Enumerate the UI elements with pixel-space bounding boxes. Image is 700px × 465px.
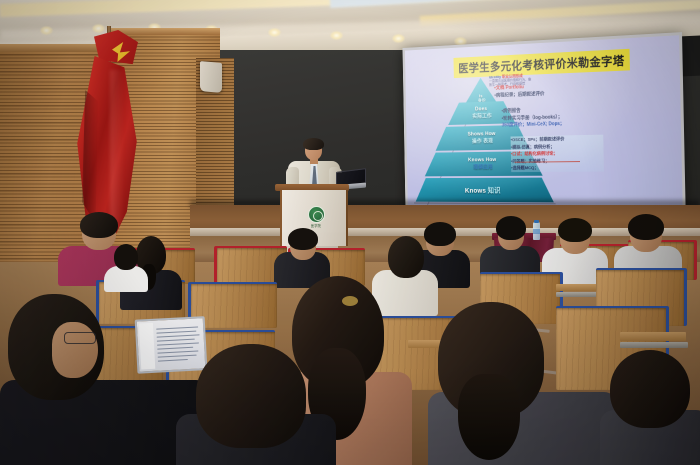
audience-member bbox=[104, 244, 148, 288]
level-label-cn: 操作 表现 bbox=[472, 137, 493, 145]
pyramid-level-knows: Knows 知识 bbox=[415, 178, 554, 203]
slide-surface: 医学生多元化考核评价米勒金字塔 Is 身份 Does 实际工作 Shows Ho… bbox=[405, 35, 683, 225]
audience-member-foreground bbox=[176, 352, 336, 465]
flag-fold-highlight bbox=[110, 70, 124, 230]
person-head bbox=[388, 236, 424, 278]
person-hair bbox=[558, 218, 592, 242]
hair-clip-icon bbox=[342, 296, 358, 306]
projection-screen[interactable]: 医学生多元化考核评价米勒金字塔 Is 身份 Does 实际工作 Shows Ho… bbox=[403, 32, 687, 228]
level-label-cn: 实际工作 bbox=[472, 112, 492, 120]
person-hair bbox=[80, 212, 118, 238]
emblem-inner-ring bbox=[313, 211, 323, 221]
bullet-item: •选择题MCQ； bbox=[511, 164, 604, 172]
person-hair bbox=[628, 214, 664, 240]
bullet-item: 360度评价；Mini-CeX; Dops； bbox=[502, 121, 600, 131]
person-head bbox=[114, 244, 138, 270]
presenter-hair bbox=[303, 138, 324, 150]
downlight-icon bbox=[330, 31, 343, 40]
level-label-en: Knows bbox=[465, 186, 486, 194]
lecture-hall-photo: 医学生多元化考核评价米勒金字塔 Is 身份 Does 实际工作 Shows Ho… bbox=[0, 0, 700, 465]
person-ear-cheek bbox=[52, 322, 98, 378]
person-head bbox=[196, 344, 306, 448]
tablet-arm-bracket bbox=[620, 342, 688, 348]
wall-speaker-icon bbox=[200, 61, 222, 93]
level-label-cn: 知识 bbox=[488, 185, 501, 195]
audience-member bbox=[480, 220, 540, 280]
person-hair bbox=[288, 228, 318, 250]
university-emblem-icon bbox=[308, 206, 325, 223]
person-hair bbox=[496, 216, 526, 240]
downlight-icon bbox=[392, 34, 405, 43]
bullets-mid-group: •病例报告 •轮转实习手册（log-books）； 360度评价；Mini-Ce… bbox=[501, 106, 599, 131]
level-label-cn: 理解应用 bbox=[473, 163, 493, 171]
eyeglasses-icon bbox=[64, 332, 96, 344]
person-head bbox=[610, 350, 690, 428]
downlight-icon bbox=[40, 26, 53, 35]
downlight-icon bbox=[268, 28, 281, 37]
bullets-low-group: •OSCE；SPs；前期叙述评价 •模拟-仿真；病例分析； •口试；结构化病例讨… bbox=[511, 135, 604, 172]
audience-member-foreground bbox=[600, 360, 700, 465]
tablet-arm-wood[interactable] bbox=[620, 332, 686, 341]
person-ponytail bbox=[458, 374, 520, 460]
audience-member-foreground bbox=[418, 312, 618, 465]
bullets-top-group: •文档 Portfoliu •病程纪录；后期叙述评价 bbox=[494, 82, 593, 100]
